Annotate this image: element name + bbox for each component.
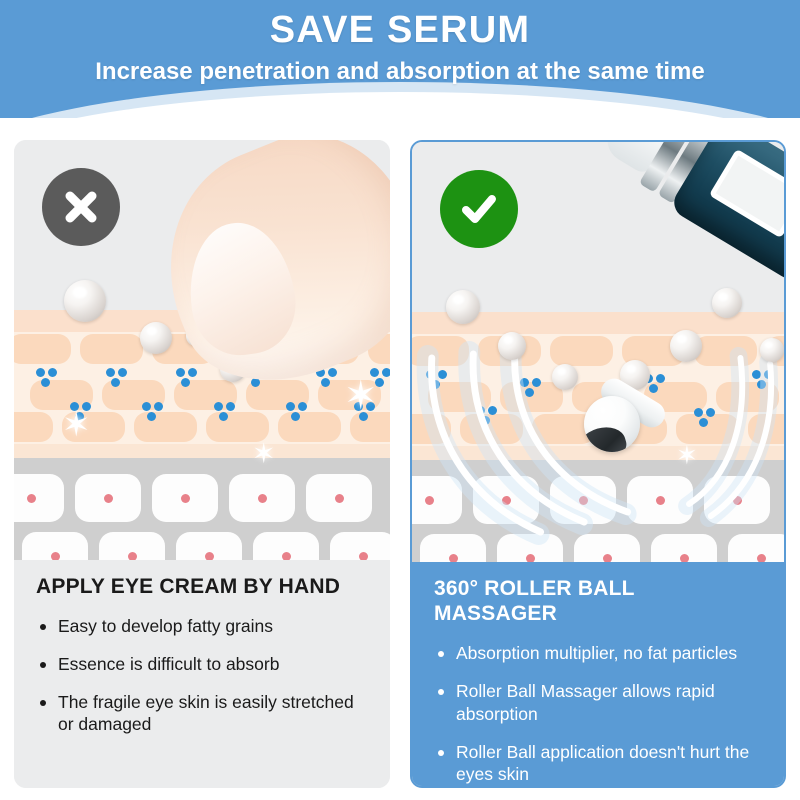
list-item: Roller Ball Massager allows rapid absorp… bbox=[434, 680, 762, 726]
serum-droplet bbox=[498, 332, 526, 360]
skin-cell bbox=[14, 334, 71, 364]
molecule-cluster-icon bbox=[476, 406, 502, 426]
serum-droplet bbox=[552, 364, 578, 390]
list-item: Essence is difficult to absorb bbox=[36, 653, 368, 676]
molecule-cluster-icon bbox=[752, 370, 778, 390]
list-item: Easy to develop fatty grains bbox=[36, 615, 368, 638]
serum-droplet bbox=[446, 290, 480, 324]
right-text-block: 360° ROLLER BALL MASSAGER Absorption mul… bbox=[412, 562, 784, 788]
skin-cell bbox=[694, 336, 757, 366]
molecule-cluster-icon bbox=[106, 368, 132, 388]
panel-roller-ball-massager: ✶ bbox=[410, 140, 786, 788]
molecule-cluster-icon bbox=[520, 378, 546, 398]
infographic-page: SAVE SERUM Increase penetration and abso… bbox=[0, 0, 800, 800]
skin-cell bbox=[412, 414, 451, 444]
dermis-cell bbox=[550, 476, 616, 524]
dermis-cell-row bbox=[22, 532, 390, 560]
header-banner: SAVE SERUM Increase penetration and abso… bbox=[0, 0, 800, 118]
dermis-cell bbox=[627, 476, 693, 524]
fingernail bbox=[181, 216, 302, 361]
molecule-cluster-icon bbox=[694, 408, 720, 428]
dermis-cell-row bbox=[420, 534, 784, 562]
dermis-cell bbox=[306, 474, 372, 522]
dermis-cell-row bbox=[412, 476, 784, 524]
dermis-cell bbox=[253, 532, 319, 560]
skin-cell bbox=[80, 334, 143, 364]
molecule-cluster-icon bbox=[370, 368, 390, 388]
skin-cell bbox=[748, 414, 784, 444]
serum-droplet bbox=[760, 338, 784, 362]
dermis-cell bbox=[728, 534, 784, 562]
check-mark-icon bbox=[440, 170, 518, 248]
device-label bbox=[709, 149, 784, 239]
molecule-cluster-icon bbox=[176, 368, 202, 388]
serum-droplet bbox=[64, 280, 106, 322]
header-text-group: SAVE SERUM Increase penetration and abso… bbox=[0, 0, 800, 85]
dermis-cell-row bbox=[14, 474, 390, 522]
right-panel-title: 360° ROLLER BALL MASSAGER bbox=[434, 576, 762, 626]
dermis-cell bbox=[412, 476, 462, 524]
dermis-cell bbox=[176, 532, 242, 560]
left-text-block: APPLY EYE CREAM BY HAND Easy to develop … bbox=[14, 560, 390, 788]
serum-applicator-device bbox=[598, 142, 784, 290]
molecule-cluster-icon bbox=[426, 370, 452, 390]
dermis-cell bbox=[152, 474, 218, 522]
left-bullet-list: Easy to develop fatty grains Essence is … bbox=[36, 615, 368, 736]
serum-droplet bbox=[670, 330, 702, 362]
skin-layer-epidermis-lower bbox=[14, 444, 390, 458]
left-panel-title: APPLY EYE CREAM BY HAND bbox=[36, 574, 368, 599]
dermis-cell bbox=[651, 534, 717, 562]
dermis-cell bbox=[473, 476, 539, 524]
dermis-cell bbox=[14, 474, 64, 522]
dermis-cell bbox=[75, 474, 141, 522]
dermis-cell bbox=[22, 532, 88, 560]
dermis-cell bbox=[704, 476, 770, 524]
dermis-cell bbox=[99, 532, 165, 560]
roller-ball-icon bbox=[584, 396, 640, 452]
molecule-cluster-icon bbox=[36, 368, 62, 388]
dermis-cell bbox=[229, 474, 295, 522]
list-item: Absorption multiplier, no fat particles bbox=[434, 642, 762, 665]
skin-cell bbox=[14, 412, 53, 442]
serum-droplet bbox=[712, 288, 742, 318]
dermis-cell bbox=[420, 534, 486, 562]
epidermis-cell-row bbox=[412, 336, 784, 366]
right-bullet-list: Absorption multiplier, no fat particles … bbox=[434, 642, 762, 786]
illustration-hand-application: ✶ ✶ ✶ ✶ bbox=[14, 140, 390, 560]
cross-x-icon bbox=[42, 168, 120, 246]
molecule-cluster-icon bbox=[142, 402, 168, 422]
list-item: The fragile eye skin is easily stretched… bbox=[36, 691, 368, 737]
molecule-cluster-icon bbox=[214, 402, 240, 422]
molecule-cluster-icon bbox=[354, 402, 380, 422]
header-subtitle: Increase penetration and absorption at t… bbox=[0, 52, 800, 86]
header-title: SAVE SERUM bbox=[0, 0, 800, 52]
molecule-cluster-icon bbox=[286, 402, 312, 422]
dermis-cell bbox=[330, 532, 390, 560]
skin-cell bbox=[550, 336, 613, 366]
illustration-roller-ball-application: ✶ bbox=[412, 142, 784, 562]
panel-apply-by-hand: ✶ ✶ ✶ ✶ bbox=[14, 140, 390, 788]
skin-cell bbox=[412, 336, 469, 366]
dermis-cell bbox=[497, 534, 563, 562]
dermis-cell bbox=[574, 534, 640, 562]
list-item: Roller Ball application doesn't hurt the… bbox=[434, 741, 762, 787]
molecule-cluster-icon bbox=[70, 402, 96, 422]
serum-droplet bbox=[140, 322, 172, 354]
